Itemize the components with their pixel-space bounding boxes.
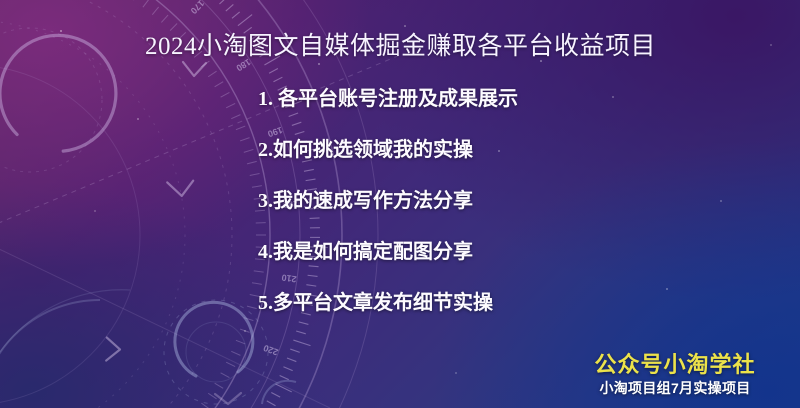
agenda-list: 1. 各平台账号注册及成果展示 2.如何挑选领域我的实操 3.我的速成写作方法分…: [258, 86, 688, 341]
agenda-item-2: 2.如何挑选领域我的实操: [258, 137, 688, 188]
agenda-item-3: 3.我的速成写作方法分享: [258, 188, 688, 239]
page-title: 2024小淘图文自媒体掘金赚取各平台收益项目: [145, 26, 656, 62]
brand-subtitle: 小淘项目组7月实操项目: [560, 378, 790, 398]
brand-block: 公众号小淘学社 小淘项目组7月实操项目: [560, 352, 790, 398]
svg-text:170: 170: [189, 0, 207, 16]
agenda-item-4: 4.我是如何搞定配图分享: [258, 239, 688, 290]
agenda-item-5: 5.多平台文章发布细节实操: [258, 290, 688, 341]
svg-text:220: 220: [262, 343, 280, 358]
brand-name: 公众号小淘学社: [560, 352, 790, 378]
agenda-item-1: 1. 各平台账号注册及成果展示: [258, 86, 688, 137]
slide-canvas: 150160170180190200210220230240250260: [0, 0, 800, 408]
